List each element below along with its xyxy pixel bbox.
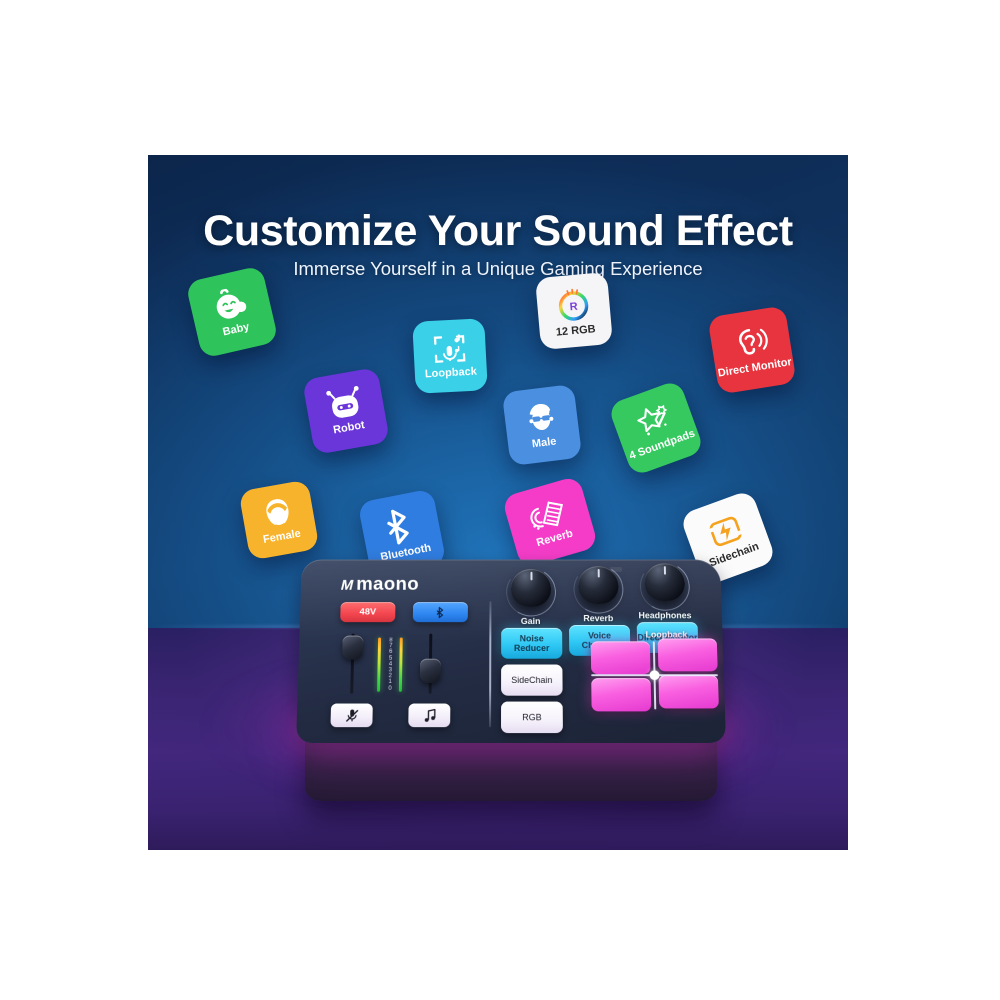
fader-cap[interactable] bbox=[342, 636, 363, 660]
maono-sound-card-device: M maono 48V 87 65 43 bbox=[296, 553, 726, 808]
brand-logo: M maono bbox=[341, 575, 419, 596]
knob-body[interactable] bbox=[578, 566, 619, 604]
knob-gain[interactable] bbox=[508, 569, 554, 614]
phantom-power-button[interactable]: 48V bbox=[340, 602, 395, 622]
feature-card-loopback[interactable]: Loopback bbox=[412, 318, 488, 394]
button-noise-reducer[interactable]: Noise Reducer bbox=[501, 628, 562, 659]
knob-label-headphones: Headphones bbox=[627, 611, 704, 621]
feature-card-robot[interactable]: Robot bbox=[302, 367, 390, 455]
soundpad-center-dot bbox=[649, 670, 659, 680]
mic-muted-icon bbox=[343, 707, 360, 724]
page-title: Customize Your Sound Effect bbox=[148, 207, 848, 256]
feature-card-label: Male bbox=[531, 436, 557, 450]
soundpad-4[interactable] bbox=[658, 675, 718, 708]
mic-mute-button[interactable] bbox=[330, 704, 372, 728]
bluetooth-icon bbox=[435, 605, 446, 618]
product-banner: Customize Your Sound Effect Immerse Your… bbox=[0, 0, 1000, 1000]
bluetooth-button[interactable] bbox=[413, 602, 468, 622]
rgb-ring-icon: R G bbox=[552, 283, 595, 324]
level-meter-left bbox=[377, 637, 381, 691]
knob-body[interactable] bbox=[511, 569, 551, 607]
knob-reverb[interactable] bbox=[575, 566, 622, 611]
bluetooth-icon bbox=[380, 504, 421, 548]
feature-card-label: Direct Monitor bbox=[717, 357, 792, 380]
robot-head-icon bbox=[322, 385, 367, 423]
feature-card-label: Loopback bbox=[425, 366, 477, 380]
brand-name: maono bbox=[356, 575, 419, 596]
music-button[interactable] bbox=[408, 704, 450, 728]
music-notes-icon bbox=[421, 707, 438, 724]
feature-card-male[interactable]: Male bbox=[502, 384, 582, 466]
mic-fader[interactable] bbox=[341, 634, 363, 698]
female-face-icon bbox=[256, 494, 299, 532]
device-top-panel: M maono 48V 87 65 43 bbox=[296, 560, 726, 743]
feature-card-direct-monitor[interactable]: Direct Monitor bbox=[707, 305, 796, 394]
soundpad-2[interactable] bbox=[658, 638, 718, 671]
feature-card-12-rgb[interactable]: R G 12 RGB bbox=[535, 272, 613, 350]
knob-body[interactable] bbox=[644, 563, 685, 601]
level-meter-right bbox=[399, 637, 403, 691]
fader-scale-left: 87 65 43 21 0 bbox=[385, 637, 396, 691]
soundpad-1[interactable] bbox=[591, 641, 651, 674]
knob-label-reverb: Reverb bbox=[560, 614, 637, 624]
feature-card-label: 12 RGB bbox=[555, 324, 596, 339]
music-fader[interactable] bbox=[420, 634, 442, 698]
soundpad-3[interactable] bbox=[591, 678, 651, 711]
loopback-mic-icon bbox=[429, 332, 471, 366]
feature-card-4-soundpads[interactable]: 4 Soundpads bbox=[607, 379, 704, 476]
knob-label-gain: Gain bbox=[492, 616, 569, 626]
feature-card-female[interactable]: Female bbox=[238, 479, 319, 560]
baby-face-icon bbox=[207, 284, 254, 326]
feature-card-label: Robot bbox=[332, 420, 365, 437]
photo-canvas: Customize Your Sound Effect Immerse Your… bbox=[148, 155, 848, 850]
feature-card-label: Female bbox=[262, 528, 301, 546]
panel-divider bbox=[489, 601, 491, 727]
male-face-icon bbox=[519, 398, 563, 437]
feature-card-label: Baby bbox=[222, 321, 251, 338]
fader-cap[interactable] bbox=[420, 659, 441, 683]
knob-headphones[interactable] bbox=[641, 563, 688, 607]
maono-mark-icon: M bbox=[339, 577, 355, 593]
button-sidechain[interactable]: SideChain bbox=[501, 665, 563, 696]
ear-listening-icon bbox=[728, 323, 773, 363]
button-rgb[interactable]: RGB bbox=[501, 702, 563, 734]
